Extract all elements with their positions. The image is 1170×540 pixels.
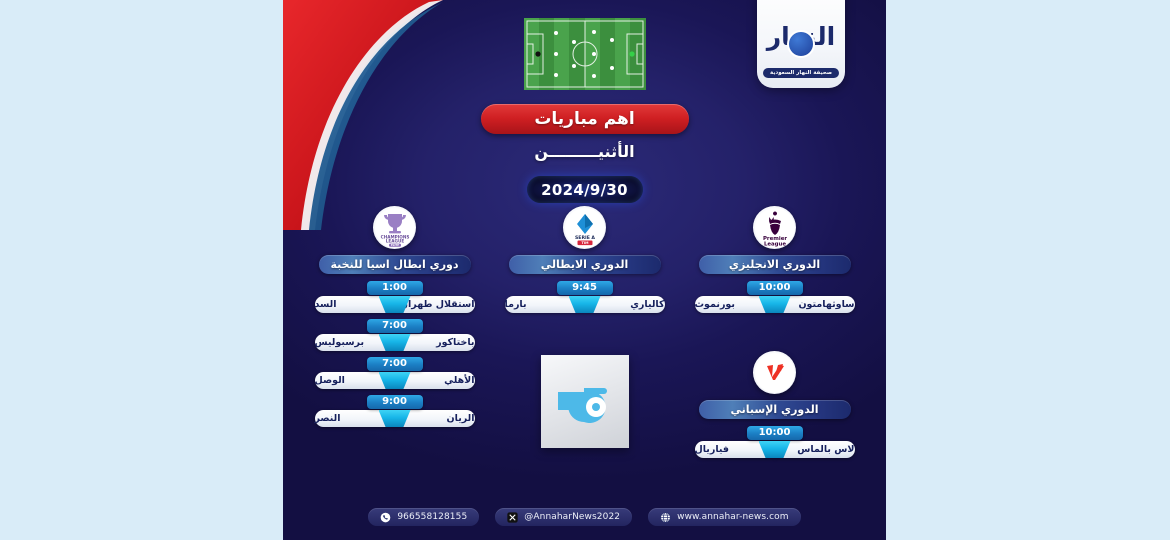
footer-website-chip[interactable]: www.annahar-news.com [648,508,801,526]
footer-x-label: @AnnaharNews2022 [524,512,620,522]
date-label: 2024/9/30 [541,181,628,199]
home-team-label: النصر [315,414,341,424]
match-row[interactable]: 10:00 لاس بالماس فياريال [695,426,855,460]
league-name-label: الدوري الايطالي [541,258,629,271]
match-time-label: 10:00 [759,283,791,293]
column-afc: CHAMPIONS LEAGUE ELITE دوري ابطال اسيا ل… [300,206,490,478]
svg-text:TIM: TIM [581,241,589,245]
match-row[interactable]: 1:00 استقلال طهران السد [315,281,475,315]
match-time-label: 10:00 [759,428,791,438]
match-row[interactable]: 9:00 الريان النصر [315,395,475,429]
match-row[interactable]: 10:00 ساوثهامتون بورنموث [695,281,855,315]
match-time-badge: 1:00 [367,281,423,295]
league-name-banner: الدوري الإسباني [699,400,851,419]
column-premier-laliga: Premier League الدوري الانجليزي 10:00 سا… [680,206,870,478]
globe-icon [660,512,671,523]
football-pitch-graphic [524,18,646,94]
match-time-badge: 10:00 [747,281,803,295]
league-name-label: دوري ابطال اسيا للنخبة [330,258,458,271]
svg-text:LEAGUE: LEAGUE [385,238,404,243]
away-team-label: كالياري [630,300,664,310]
annahar-wordmark: النهار [763,20,839,64]
svg-text:ELITE: ELITE [391,243,399,247]
league-name-banner: دوري ابطال اسيا للنخبة [319,255,471,274]
league-name-banner: الدوري الانجليزي [699,255,851,274]
page-title: اهم مباريات [534,109,634,129]
x-twitter-icon [507,512,518,523]
match-row[interactable]: 7:00 الأهلي الوصل [315,357,475,391]
day-label: الأثنيـــــــــن [534,142,634,161]
laliga-logo [753,351,796,394]
home-team-label: فياريال [695,445,730,455]
league-name-label: الدوري الإسباني [731,403,819,416]
match-time-label: 7:00 [382,321,407,331]
league-block-laliga: الدوري الإسباني 10:00 لاس بالماس فياريال [680,351,870,464]
globe-icon [787,30,815,58]
league-name-banner: الدوري الايطالي [509,255,661,274]
away-team-label: لاس بالماس [797,445,854,455]
home-team-label: برسبوليس [315,338,365,348]
home-team-label: بورنموث [695,300,735,310]
home-team-label: الوصل [315,376,345,386]
screenshot-canvas: النهار صحيفة النهار السعودية اهم مباريات… [0,0,1170,540]
corner-swoosh-decoration [283,0,443,230]
referee-whistle-card [541,355,629,448]
annahar-logo-badge: النهار صحيفة النهار السعودية [757,0,845,88]
league-block-serie-a: SERIE A TIM الدوري الايطالي 9:45 كالياري… [490,206,680,319]
match-time-label: 9:45 [572,283,597,293]
referee-whistle-icon [554,376,616,428]
home-team-label: السد [315,300,337,310]
leagues-grid: CHAMPIONS LEAGUE ELITE دوري ابطال اسيا ل… [283,206,886,478]
home-team-label: بارما [505,300,527,310]
away-team-label: ساوثهامتون [798,300,854,310]
serie-a-logo: SERIE A TIM [563,206,606,249]
footer-whatsapp-chip[interactable]: 966558128155 [368,508,479,526]
match-time-badge: 7:00 [367,357,423,371]
league-block-premier-league: Premier League الدوري الانجليزي 10:00 سا… [680,206,870,319]
match-time-badge: 9:00 [367,395,423,409]
footer-x-chip[interactable]: @AnnaharNews2022 [495,508,632,526]
match-time-badge: 9:45 [557,281,613,295]
match-time-label: 1:00 [382,283,407,293]
column-serie-a: SERIE A TIM الدوري الايطالي 9:45 كالياري… [490,206,680,478]
league-block-afc: CHAMPIONS LEAGUE ELITE دوري ابطال اسيا ل… [300,206,490,433]
away-team-label: استقلال طهران [400,300,475,310]
whatsapp-icon [380,512,391,523]
svg-text:League: League [763,241,785,247]
premier-league-logo: Premier League [753,206,796,249]
footer-whatsapp-label: 966558128155 [397,512,467,522]
match-time-label: 7:00 [382,359,407,369]
match-time-label: 9:00 [382,397,407,407]
footer-contacts: www.annahar-news.com @AnnaharNews2022 96… [283,508,886,526]
match-schedule-poster: النهار صحيفة النهار السعودية اهم مباريات… [283,0,886,540]
match-row[interactable]: 7:00 باختاكور برسبوليس [315,319,475,353]
footer-website-label: www.annahar-news.com [677,512,789,522]
annahar-logo-subtitle: صحيفة النهار السعودية [763,68,839,78]
away-team-label: الأهلي [444,376,474,386]
match-time-badge: 7:00 [367,319,423,333]
match-row[interactable]: 9:45 كالياري بارما [505,281,665,315]
away-team-label: باختاكور [436,338,474,348]
match-time-badge: 10:00 [747,426,803,440]
date-badge: 2024/9/30 [527,176,643,203]
league-name-label: الدوري الانجليزي [729,258,820,271]
poster-title-banner: اهم مباريات [481,104,689,134]
away-team-label: الريان [447,414,475,424]
afc-champions-league-elite-logo: CHAMPIONS LEAGUE ELITE [373,206,416,249]
